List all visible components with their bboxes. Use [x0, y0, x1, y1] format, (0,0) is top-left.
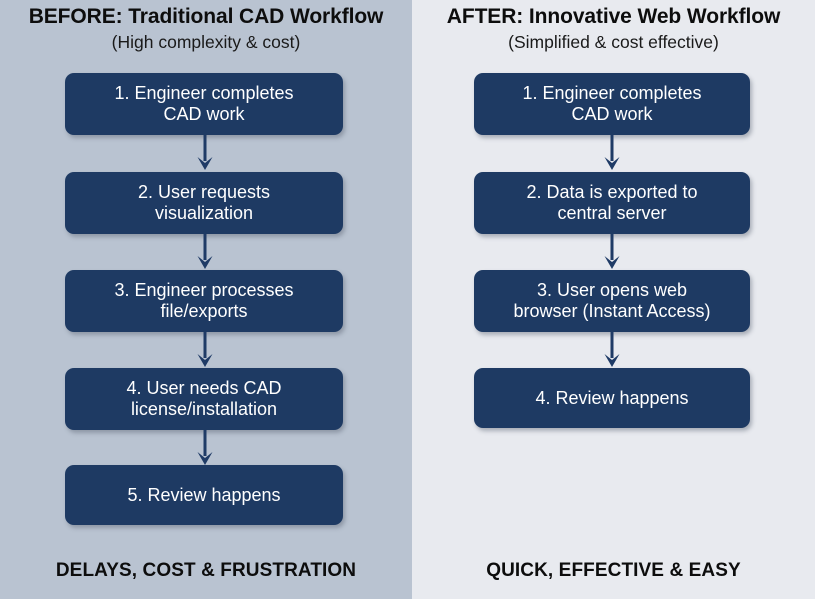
- before-step-4-label: 4. User needs CADlicense/installation: [120, 378, 287, 420]
- after-step-1[interactable]: 1. Engineer completesCAD work: [474, 73, 750, 135]
- before-panel-subtitle: (High complexity & cost): [0, 32, 412, 52]
- after-arrow-2-to-3: [602, 234, 622, 271]
- before-step-5[interactable]: 5. Review happens: [65, 465, 343, 525]
- before-step-2-label: 2. User requestsvisualization: [132, 182, 276, 224]
- before-arrow-2-to-3: [195, 234, 215, 271]
- after-step-2[interactable]: 2. Data is exported tocentral server: [474, 172, 750, 234]
- after-step-3-label: 3. User opens webbrowser (Instant Access…: [507, 280, 716, 322]
- before-step-1-label: 1. Engineer completesCAD work: [108, 83, 299, 125]
- before-panel-title: BEFORE: Traditional CAD Workflow: [0, 6, 412, 28]
- before-step-1[interactable]: 1. Engineer completesCAD work: [65, 73, 343, 135]
- before-footer-text: DELAYS, COST & FRUSTRATION: [0, 560, 412, 582]
- before-panel-heading: BEFORE: Traditional CAD Workflow (High c…: [0, 6, 412, 52]
- before-arrow-1-to-2: [195, 135, 215, 172]
- after-panel-heading: AFTER: Innovative Web Workflow (Simplifi…: [412, 6, 815, 52]
- after-step-3[interactable]: 3. User opens webbrowser (Instant Access…: [474, 270, 750, 332]
- after-step-1-label: 1. Engineer completesCAD work: [516, 83, 707, 125]
- after-footer-text: QUICK, EFFECTIVE & EASY: [412, 560, 815, 582]
- after-arrow-1-to-2: [602, 135, 622, 172]
- before-panel: BEFORE: Traditional CAD Workflow (High c…: [0, 0, 412, 599]
- before-flow: 1. Engineer completesCAD work 2. User re…: [0, 0, 412, 599]
- before-step-2[interactable]: 2. User requestsvisualization: [65, 172, 343, 234]
- before-step-4[interactable]: 4. User needs CADlicense/installation: [65, 368, 343, 430]
- after-panel-title: AFTER: Innovative Web Workflow: [412, 6, 815, 28]
- after-panel-subtitle: (Simplified & cost effective): [412, 32, 815, 52]
- after-panel: AFTER: Innovative Web Workflow (Simplifi…: [412, 0, 815, 599]
- after-step-4-label: 4. Review happens: [529, 388, 694, 409]
- workflow-comparison-diagram: BEFORE: Traditional CAD Workflow (High c…: [0, 0, 815, 599]
- before-step-3[interactable]: 3. Engineer processesfile/exports: [65, 270, 343, 332]
- before-step-3-label: 3. Engineer processesfile/exports: [108, 280, 299, 322]
- after-flow: 1. Engineer completesCAD work 2. Data is…: [412, 0, 815, 599]
- before-arrow-4-to-5: [195, 430, 215, 467]
- before-step-5-label: 5. Review happens: [121, 485, 286, 506]
- after-arrow-3-to-4: [602, 332, 622, 369]
- after-step-2-label: 2. Data is exported tocentral server: [520, 182, 703, 224]
- before-arrow-3-to-4: [195, 332, 215, 369]
- after-step-4[interactable]: 4. Review happens: [474, 368, 750, 428]
